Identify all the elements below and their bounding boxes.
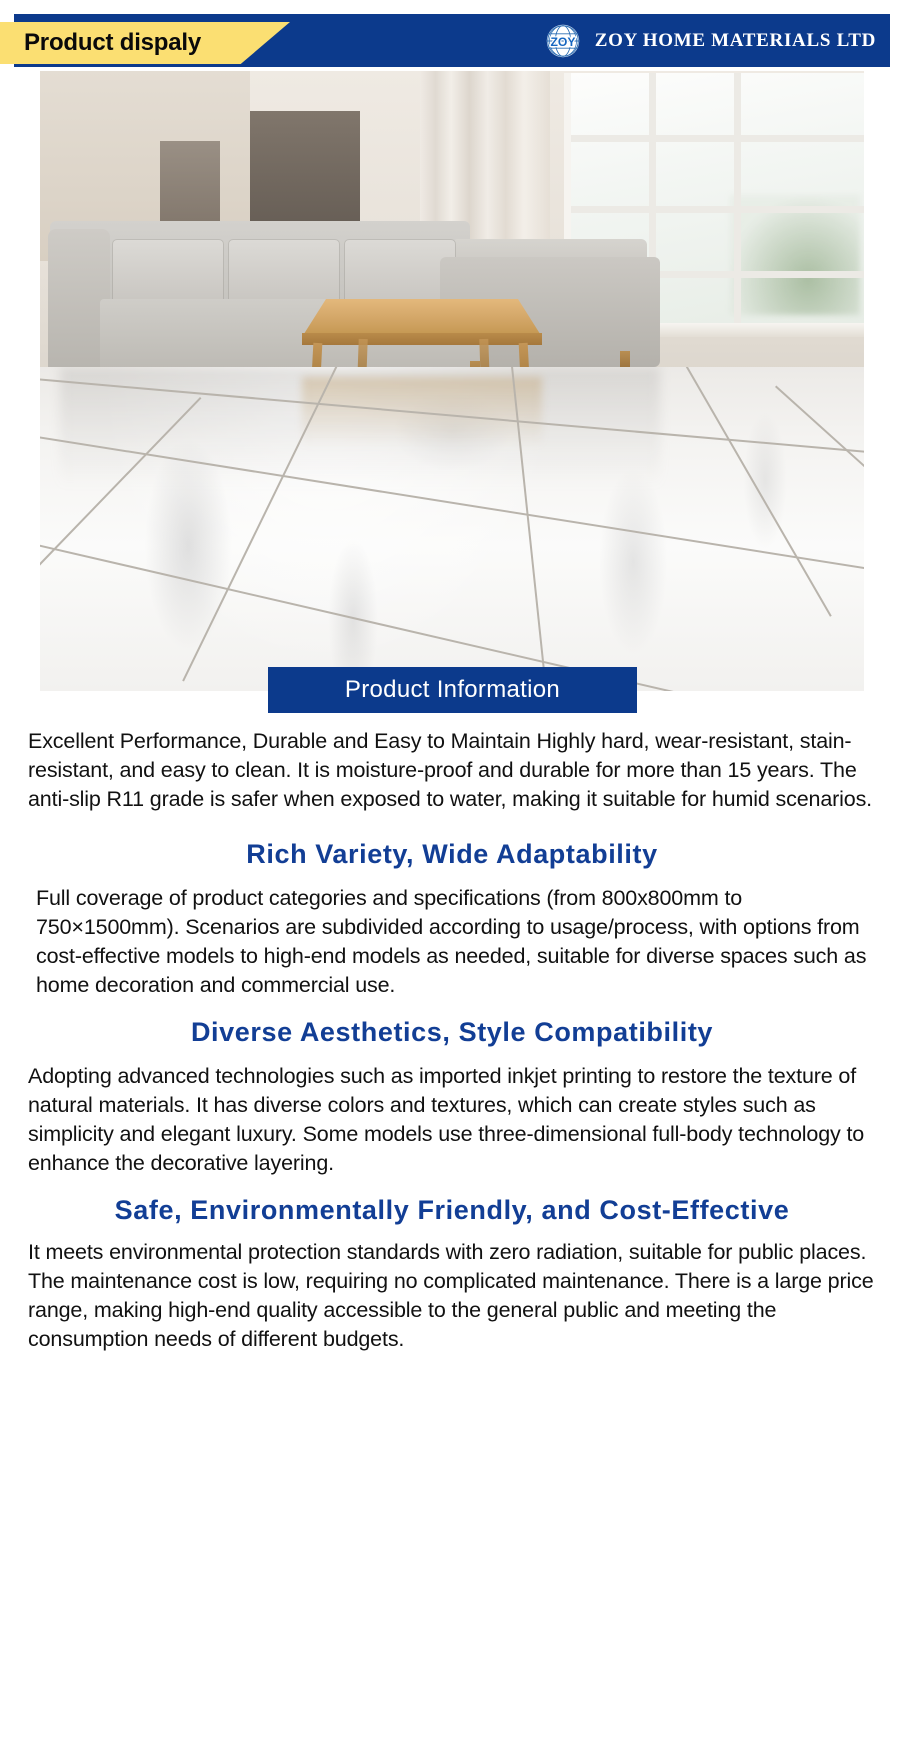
brand-lockup: ZOY ZOY HOME MATERIALS LTD bbox=[545, 14, 876, 67]
section-heading-rich-variety: Rich Variety, Wide Adaptability bbox=[28, 836, 876, 872]
intro-paragraph: Excellent Performance, Durable and Easy … bbox=[28, 727, 876, 814]
header-banner-label: Product dispaly bbox=[0, 29, 201, 57]
section-paragraph-diverse-aesthetics: Adopting advanced technologies such as i… bbox=[28, 1062, 876, 1178]
header-banner-ribbon: Product dispaly bbox=[0, 22, 290, 64]
section-title: Product Information bbox=[345, 676, 560, 704]
content-area: Excellent Performance, Durable and Easy … bbox=[0, 713, 904, 1372]
scene-illustration bbox=[40, 71, 864, 691]
section-paragraph-safe-eco: It meets environmental protection standa… bbox=[28, 1238, 876, 1354]
section-paragraph-rich-variety: Full coverage of product categories and … bbox=[28, 884, 876, 1000]
brand-name: ZOY HOME MATERIALS LTD bbox=[595, 30, 876, 52]
product-display-page: Product dispaly ZOY ZOY HOME MATERIALS L… bbox=[0, 0, 904, 1749]
svg-text:ZOY: ZOY bbox=[550, 34, 575, 48]
marble-tile-floor bbox=[40, 367, 864, 691]
product-information-bar: Product Information bbox=[268, 667, 637, 713]
section-heading-safe-eco: Safe, Environmentally Friendly, and Cost… bbox=[28, 1192, 876, 1228]
section-heading-diverse-aesthetics: Diverse Aesthetics, Style Compatibility bbox=[28, 1014, 876, 1050]
coffee-table-edge bbox=[302, 333, 542, 345]
product-scene-photo bbox=[40, 71, 864, 691]
coffee-table-top bbox=[302, 299, 542, 337]
page-header: Product dispaly ZOY ZOY HOME MATERIALS L… bbox=[14, 14, 890, 67]
section-title-wrap: Product Information bbox=[0, 667, 904, 713]
window-foliage bbox=[730, 195, 860, 315]
globe-icon: ZOY bbox=[545, 23, 581, 59]
